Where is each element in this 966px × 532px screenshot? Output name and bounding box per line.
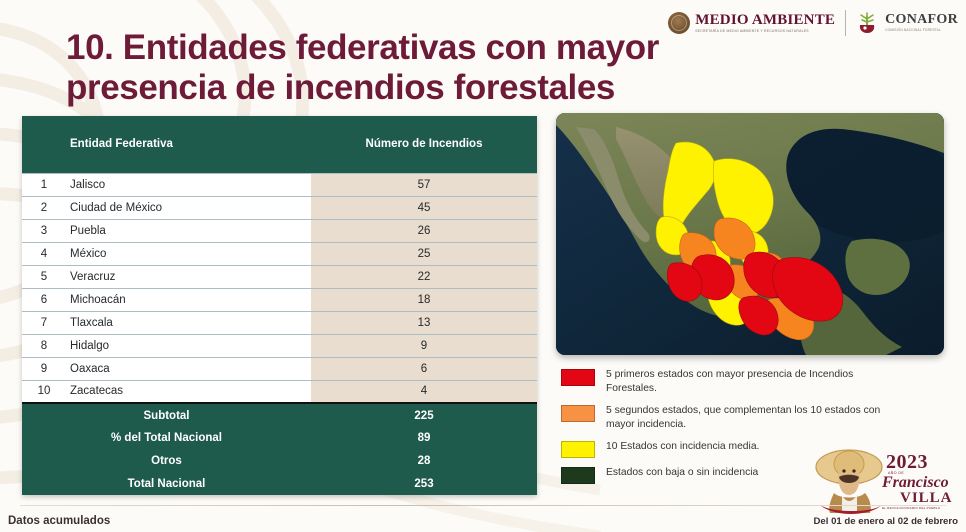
states-table-card: Entidad Federativa Número de Incendios 1… xyxy=(22,116,537,495)
summary-value: 89 xyxy=(311,426,537,449)
cell-fires: 9 xyxy=(311,334,537,357)
cell-state: Ciudad de México xyxy=(66,196,311,219)
cell-rank: 3 xyxy=(22,219,66,242)
page-title: 10. Entidades federativas con mayor pres… xyxy=(66,28,766,108)
logo-conafor: CONAFOR COMISIÓN NACIONAL FORESTAL xyxy=(856,12,958,34)
cell-fires: 57 xyxy=(311,173,537,196)
table-row: 8Hidalgo9 xyxy=(22,334,537,357)
footer-divider xyxy=(20,505,946,506)
footer-note-right: Del 01 de enero al 02 de febrero xyxy=(813,516,958,527)
table-row: 9Oaxaca6 xyxy=(22,357,537,380)
table-row: 5Veracruz22 xyxy=(22,265,537,288)
summary-label: Total Nacional xyxy=(22,472,311,495)
logo-conafor-label: CONAFOR xyxy=(885,13,958,27)
summary-value: 253 xyxy=(311,472,537,495)
legend-item: 5 segundos estados, que complementan los… xyxy=(561,404,961,432)
mexico-satellite-choropleth-map xyxy=(556,113,944,355)
cell-rank: 8 xyxy=(22,334,66,357)
summary-value: 225 xyxy=(311,403,537,426)
logo-medio-ambiente-label: MEDIO AMBIENTE xyxy=(695,13,835,28)
cell-rank: 4 xyxy=(22,242,66,265)
table-head: Entidad Federativa Número de Incendios xyxy=(22,116,537,173)
cell-rank: 1 xyxy=(22,173,66,196)
column-header-incendios: Número de Incendios xyxy=(311,116,537,173)
legend-label: 5 primeros estados con mayor presencia d… xyxy=(606,368,906,396)
cell-fires: 18 xyxy=(311,288,537,311)
legend-item: 5 primeros estados con mayor presencia d… xyxy=(561,368,961,396)
summary-label: Otros xyxy=(22,449,311,472)
cell-rank: 5 xyxy=(22,265,66,288)
cell-state: Puebla xyxy=(66,219,311,242)
states-table: Entidad Federativa Número de Incendios 1… xyxy=(22,116,537,495)
slide-root: MEDIO AMBIENTE SECRETARÍA DE MEDIO AMBIE… xyxy=(0,0,966,532)
table-summary: Subtotal225% del Total Nacional89Otros28… xyxy=(22,403,537,495)
legend-color-swatch xyxy=(561,467,595,484)
table-row: 4México25 xyxy=(22,242,537,265)
column-header-entidad: Entidad Federativa xyxy=(66,116,311,173)
summary-row: Otros28 xyxy=(22,449,537,472)
cell-state: Oaxaca xyxy=(66,357,311,380)
cell-state: Veracruz xyxy=(66,265,311,288)
cell-state: México xyxy=(66,242,311,265)
cell-fires: 25 xyxy=(311,242,537,265)
cell-fires: 6 xyxy=(311,357,537,380)
table-header-row: Entidad Federativa Número de Incendios xyxy=(22,116,537,173)
legend-label: Estados con baja o sin incidencia xyxy=(606,466,758,480)
cell-rank: 2 xyxy=(22,196,66,219)
table-row: 7Tlaxcala13 xyxy=(22,311,537,334)
cell-rank: 9 xyxy=(22,357,66,380)
legend-label: 5 segundos estados, que complementan los… xyxy=(606,404,906,432)
cell-fires: 45 xyxy=(311,196,537,219)
legend-color-swatch xyxy=(561,441,595,458)
table-row: 3Puebla26 xyxy=(22,219,537,242)
table-row: 2Ciudad de México45 xyxy=(22,196,537,219)
summary-label: Subtotal xyxy=(22,403,311,426)
summary-label: % del Total Nacional xyxy=(22,426,311,449)
cell-state: Jalisco xyxy=(66,173,311,196)
cell-rank: 7 xyxy=(22,311,66,334)
cell-rank: 6 xyxy=(22,288,66,311)
column-header-rank xyxy=(22,116,66,173)
cell-fires: 26 xyxy=(311,219,537,242)
logo-conafor-subtitle: COMISIÓN NACIONAL FORESTAL xyxy=(885,29,958,32)
cell-state: Hidalgo xyxy=(66,334,311,357)
summary-row: Total Nacional253 xyxy=(22,472,537,495)
table-body: 1Jalisco572Ciudad de México453Puebla264M… xyxy=(22,173,537,403)
logo-divider xyxy=(845,10,846,36)
legend-color-swatch xyxy=(561,405,595,422)
table-row: 1Jalisco57 xyxy=(22,173,537,196)
cell-state: Michoacán xyxy=(66,288,311,311)
cell-rank: 10 xyxy=(22,380,66,403)
table-row: 10Zacatecas4 xyxy=(22,380,537,403)
cell-state: Tlaxcala xyxy=(66,311,311,334)
footer-note-left: Datos acumulados xyxy=(8,515,110,527)
cell-fires: 4 xyxy=(311,380,537,403)
conafor-tree-icon xyxy=(856,12,880,34)
legend-label: 10 Estados con incidencia media. xyxy=(606,440,759,454)
summary-row: % del Total Nacional89 xyxy=(22,426,537,449)
table-row: 6Michoacán18 xyxy=(22,288,537,311)
legend-color-swatch xyxy=(561,369,595,386)
cell-fires: 22 xyxy=(311,265,537,288)
badge-caption: EL REVOLUCIONARIO DEL PUEBLO xyxy=(882,506,940,510)
cell-fires: 13 xyxy=(311,311,537,334)
summary-row: Subtotal225 xyxy=(22,403,537,426)
summary-value: 28 xyxy=(311,449,537,472)
cell-state: Zacatecas xyxy=(66,380,311,403)
